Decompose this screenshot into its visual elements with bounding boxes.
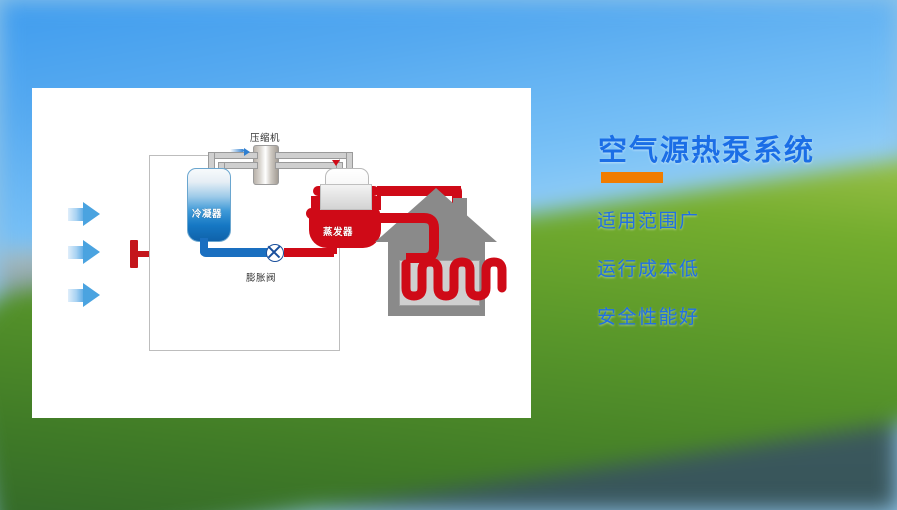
diagram-panel: 压缩机 冷凝器 膨胀阀 — [32, 88, 531, 418]
flow-trail-cold — [230, 149, 244, 152]
feature-item: 安全性能好 — [597, 302, 700, 329]
pipe-compressor-outlet — [275, 152, 349, 159]
air-flow-arrow — [68, 283, 100, 308]
expansion-valve-label: 膨胀阀 — [246, 270, 276, 284]
arrow-head — [83, 240, 100, 264]
arrow-head — [83, 202, 100, 226]
feature-item: 适用范围广 — [597, 206, 700, 233]
compressor-label: 压缩机 — [250, 130, 280, 144]
air-flow-arrow — [68, 202, 100, 227]
slide-root: 压缩机 冷凝器 膨胀阀 — [0, 0, 897, 510]
condenser-tank — [187, 168, 231, 242]
flow-arrow-cold-in — [244, 148, 250, 156]
page-title: 空气源热泵系统 — [598, 127, 815, 169]
title-underline-bar — [601, 172, 663, 183]
feature-list: 适用范围广 运行成本低 安全性能好 — [597, 206, 700, 350]
arrow-head — [83, 283, 100, 307]
feature-item: 运行成本低 — [597, 254, 700, 281]
pipe-liquid-line — [208, 248, 274, 257]
flow-arrow-hot-down — [332, 160, 340, 166]
evaporator-label: 蒸发器 — [323, 224, 353, 238]
arrow-tail — [68, 289, 83, 302]
underfloor-coil-icon — [372, 184, 512, 312]
pipe-compressor-inlet — [208, 152, 258, 159]
air-flow-arrow — [68, 240, 100, 265]
heat-pump-diagram: 压缩机 冷凝器 膨胀阀 — [32, 88, 531, 418]
flow-trail-hot — [296, 250, 312, 253]
expansion-valve-icon — [266, 244, 284, 262]
evaporator-core — [320, 184, 372, 210]
arrow-tail — [68, 208, 83, 221]
arrow-tail — [68, 246, 83, 259]
condenser-label: 冷凝器 — [192, 206, 222, 220]
